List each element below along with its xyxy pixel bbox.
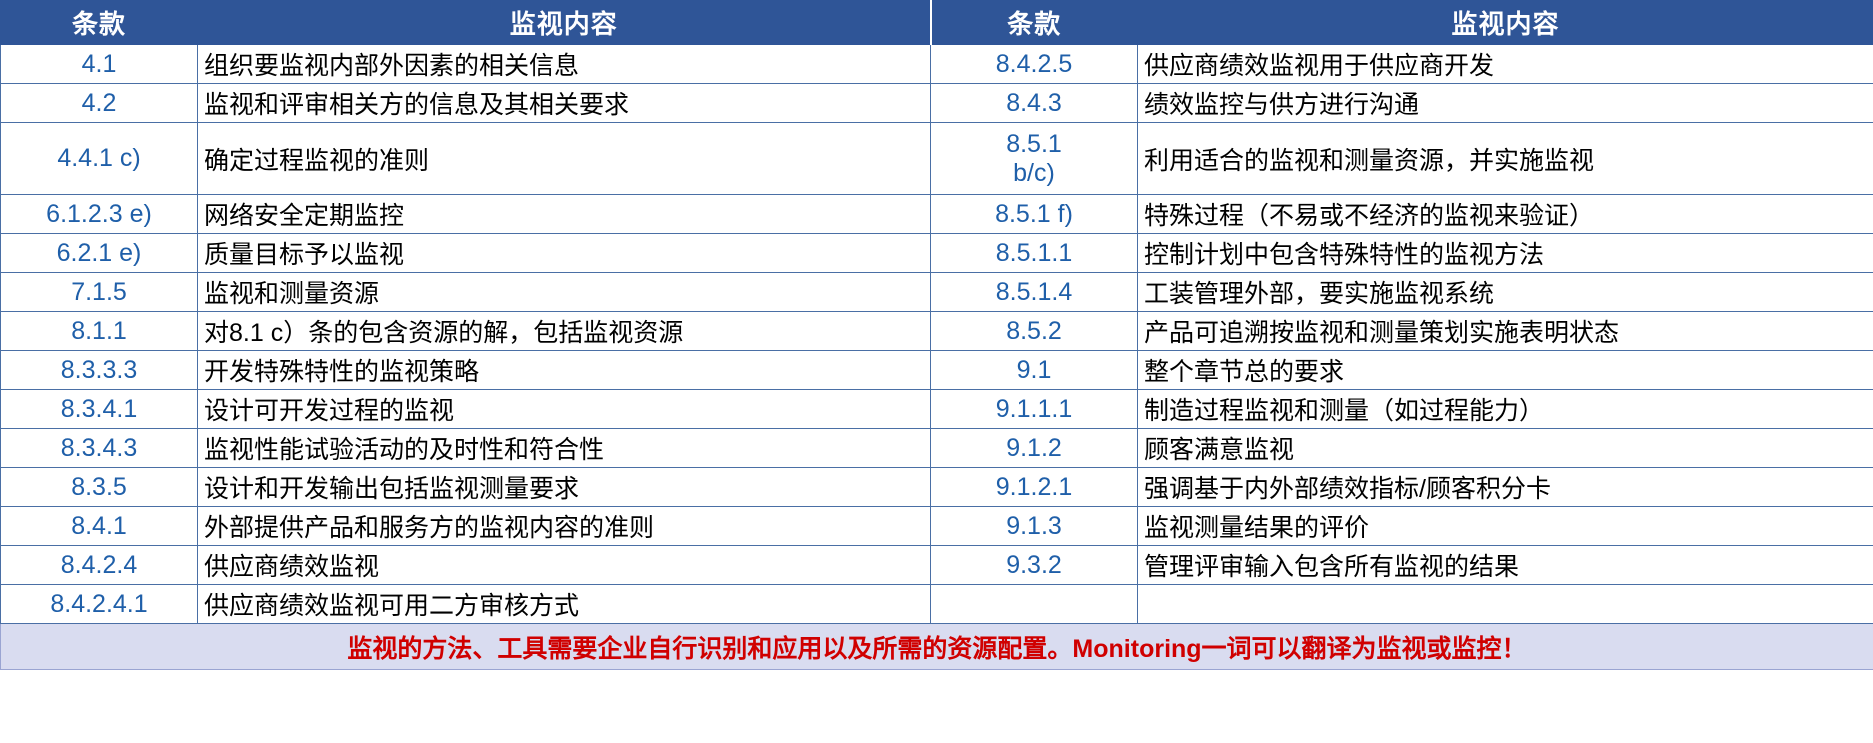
header-clause-right: 条款 [931, 1, 1138, 45]
clause-cell: 8.5.1.1 [931, 234, 1138, 273]
clause-cell: 8.5.2 [931, 312, 1138, 351]
table-row: 7.1.5监视和测量资源8.5.1.4工装管理外部，要实施监视系统 [1, 273, 1873, 312]
empty-cell [931, 585, 1138, 624]
clause-cell: 8.4.2.5 [931, 45, 1138, 84]
monitoring-requirements-table: 条款 监视内容 条款 监视内容 4.1组织要监视内部外因素的相关信息8.4.2.… [0, 0, 1873, 670]
monitoring-requirements-table-slide: 条款 监视内容 条款 监视内容 4.1组织要监视内部外因素的相关信息8.4.2.… [0, 0, 1873, 743]
clause-cell: 9.3.2 [931, 546, 1138, 585]
content-cell: 设计和开发输出包括监视测量要求 [198, 468, 931, 507]
clause-cell: 9.1.1.1 [931, 390, 1138, 429]
table-row: 8.3.3.3开发特殊特性的监视策略9.1整个章节总的要求 [1, 351, 1873, 390]
clause-cell: 8.3.5 [1, 468, 198, 507]
content-cell: 监视和测量资源 [198, 273, 931, 312]
clause-cell: 9.1.2 [931, 429, 1138, 468]
clause-cell: 8.4.1 [1, 507, 198, 546]
clause-cell: 4.2 [1, 84, 198, 123]
content-cell: 监视性能试验活动的及时性和符合性 [198, 429, 931, 468]
clause-cell: 4.4.1 c) [1, 123, 198, 195]
header-row: 条款 监视内容 条款 监视内容 [1, 1, 1873, 45]
table-row: 8.4.1外部提供产品和服务方的监视内容的准则9.1.3监视测量结果的评价 [1, 507, 1873, 546]
clause-cell: 8.3.4.1 [1, 390, 198, 429]
clause-cell: 8.4.3 [931, 84, 1138, 123]
content-cell: 组织要监视内部外因素的相关信息 [198, 45, 931, 84]
clause-cell: 6.2.1 e) [1, 234, 198, 273]
table-row: 6.1.2.3 e)网络安全定期监控8.5.1 f)特殊过程（不易或不经济的监视… [1, 195, 1873, 234]
empty-cell [1138, 585, 1873, 624]
content-cell: 利用适合的监视和测量资源，并实施监视 [1138, 123, 1873, 195]
header-clause-left: 条款 [1, 1, 198, 45]
content-cell: 强调基于内外部绩效指标/顾客积分卡 [1138, 468, 1873, 507]
content-cell: 制造过程监视和测量（如过程能力） [1138, 390, 1873, 429]
table-row: 4.2监视和评审相关方的信息及其相关要求8.4.3绩效监控与供方进行沟通 [1, 84, 1873, 123]
table-row: 8.4.2.4供应商绩效监视9.3.2管理评审输入包含所有监视的结果 [1, 546, 1873, 585]
table-row: 8.3.4.1设计可开发过程的监视9.1.1.1制造过程监视和测量（如过程能力） [1, 390, 1873, 429]
content-cell: 特殊过程（不易或不经济的监视来验证） [1138, 195, 1873, 234]
table-row: 4.4.1 c)确定过程监视的准则8.5.1 b/c)利用适合的监视和测量资源，… [1, 123, 1873, 195]
table-row: 6.2.1 e)质量目标予以监视8.5.1.1控制计划中包含特殊特性的监视方法 [1, 234, 1873, 273]
content-cell: 质量目标予以监视 [198, 234, 931, 273]
clause-cell: 8.4.2.4.1 [1, 585, 198, 624]
content-cell: 监视和评审相关方的信息及其相关要求 [198, 84, 931, 123]
table-row: 8.4.2.4.1供应商绩效监视可用二方审核方式 [1, 585, 1873, 624]
clause-cell: 9.1 [931, 351, 1138, 390]
clause-cell: 8.5.1 b/c) [931, 123, 1138, 195]
clause-cell: 8.4.2.4 [1, 546, 198, 585]
clause-cell: 8.5.1 f) [931, 195, 1138, 234]
content-cell: 监视测量结果的评价 [1138, 507, 1873, 546]
clause-cell: 9.1.2.1 [931, 468, 1138, 507]
content-cell: 供应商绩效监视可用二方审核方式 [198, 585, 931, 624]
content-cell: 管理评审输入包含所有监视的结果 [1138, 546, 1873, 585]
content-cell: 对8.1 c）条的包含资源的解，包括监视资源 [198, 312, 931, 351]
table-body: 4.1组织要监视内部外因素的相关信息8.4.2.5供应商绩效监视用于供应商开发4… [1, 45, 1873, 624]
content-cell: 设计可开发过程的监视 [198, 390, 931, 429]
content-cell: 网络安全定期监控 [198, 195, 931, 234]
table-row: 4.1组织要监视内部外因素的相关信息8.4.2.5供应商绩效监视用于供应商开发 [1, 45, 1873, 84]
content-cell: 供应商绩效监视用于供应商开发 [1138, 45, 1873, 84]
content-cell: 开发特殊特性的监视策略 [198, 351, 931, 390]
header-content-left: 监视内容 [198, 1, 931, 45]
content-cell: 顾客满意监视 [1138, 429, 1873, 468]
table-row: 8.3.5设计和开发输出包括监视测量要求9.1.2.1强调基于内外部绩效指标/顾… [1, 468, 1873, 507]
table-row: 8.3.4.3监视性能试验活动的及时性和符合性9.1.2顾客满意监视 [1, 429, 1873, 468]
clause-cell: 8.3.4.3 [1, 429, 198, 468]
footnote-text: 监视的方法、工具需要企业自行识别和应用以及所需的资源配置。Monitoring一… [1, 624, 1873, 670]
content-cell: 控制计划中包含特殊特性的监视方法 [1138, 234, 1873, 273]
clause-cell: 8.1.1 [1, 312, 198, 351]
footnote-row: 监视的方法、工具需要企业自行识别和应用以及所需的资源配置。Monitoring一… [1, 624, 1873, 670]
header-content-right: 监视内容 [1138, 1, 1873, 45]
content-cell: 供应商绩效监视 [198, 546, 931, 585]
content-cell: 工装管理外部，要实施监视系统 [1138, 273, 1873, 312]
table-footer: 监视的方法、工具需要企业自行识别和应用以及所需的资源配置。Monitoring一… [1, 624, 1873, 670]
table-header: 条款 监视内容 条款 监视内容 [1, 1, 1873, 45]
clause-cell: 9.1.3 [931, 507, 1138, 546]
clause-cell: 6.1.2.3 e) [1, 195, 198, 234]
content-cell: 绩效监控与供方进行沟通 [1138, 84, 1873, 123]
content-cell: 确定过程监视的准则 [198, 123, 931, 195]
clause-cell: 8.5.1.4 [931, 273, 1138, 312]
clause-cell: 8.3.3.3 [1, 351, 198, 390]
clause-cell: 4.1 [1, 45, 198, 84]
content-cell: 整个章节总的要求 [1138, 351, 1873, 390]
table-row: 8.1.1对8.1 c）条的包含资源的解，包括监视资源8.5.2产品可追溯按监视… [1, 312, 1873, 351]
content-cell: 产品可追溯按监视和测量策划实施表明状态 [1138, 312, 1873, 351]
clause-cell: 7.1.5 [1, 273, 198, 312]
content-cell: 外部提供产品和服务方的监视内容的准则 [198, 507, 931, 546]
